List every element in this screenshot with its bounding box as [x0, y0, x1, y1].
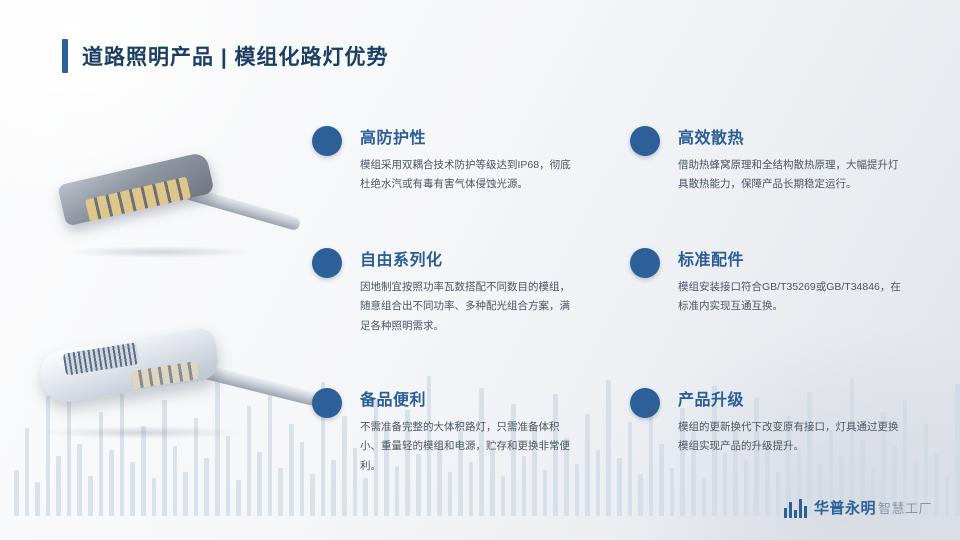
street-lamp-module-photo — [42, 150, 302, 270]
feature-item-product-upgrade: 产品升级 模组的更新换代下改变原有接口，灯具通过更换模组实现产品的升级提升。 — [630, 386, 904, 457]
bullet-icon — [630, 126, 660, 156]
feature-body: 模组采用双耦合技术防护等级达到IP68，彻底杜绝水汽或有毒有害气体侵蚀光源。 — [360, 156, 578, 195]
feature-heading: 高效散热 — [678, 124, 904, 148]
slide-title-text: 道路照明产品 | 模组化路灯优势 — [82, 41, 389, 71]
logo-company-name: 华普永明 — [814, 497, 876, 518]
feature-heading: 产品升级 — [678, 386, 904, 410]
feature-heading: 自由系列化 — [360, 246, 578, 270]
street-lamp-finned-photo — [28, 322, 318, 452]
title-accent-bar — [62, 39, 68, 73]
logo-mark-icon — [784, 498, 808, 518]
feature-body: 借助热蜂窝原理和全结构散热原理，大幅提升灯具散热能力，保障产品长期稳定运行。 — [678, 156, 904, 195]
feature-body: 因地制宜按照功率瓦数搭配不同数目的模组，随意组合出不同功率、多种配光组合方案，满… — [360, 278, 578, 336]
slide-root: 道路照明产品 | 模组化路灯优势 高防护性 模组采用双耦合技术防护等级达到IP6… — [0, 0, 960, 540]
feature-body: 模组安装接口符合GB/T35269或GB/T34846，在标准内实现互通互换。 — [678, 278, 904, 317]
feature-heading: 标准配件 — [678, 246, 904, 270]
feature-heading: 备品便利 — [360, 386, 578, 410]
bullet-icon — [630, 248, 660, 278]
feature-body: 不需准备完整的大体积路灯，只需准备体积小、重量轻的模组和电源，贮存和更换非常便利… — [360, 418, 578, 476]
lamp-shadow — [42, 426, 242, 439]
feature-item-serialization: 自由系列化 因地制宜按照功率瓦数搭配不同数目的模组，随意组合出不同功率、多种配光… — [312, 246, 578, 336]
slide-title: 道路照明产品 | 模组化路灯优势 — [62, 36, 389, 76]
bullet-icon — [312, 248, 342, 278]
feature-item-heat-dissipation: 高效散热 借助热蜂窝原理和全结构散热原理，大幅提升灯具散热能力，保障产品长期稳定… — [630, 124, 904, 195]
feature-heading: 高防护性 — [360, 124, 578, 148]
company-logo: 华普永明 智慧工厂 — [784, 497, 932, 518]
bullet-icon — [630, 388, 660, 418]
feature-item-spare-parts: 备品便利 不需准备完整的大体积路灯，只需准备体积小、重量轻的模组和电源，贮存和更… — [312, 386, 578, 476]
bullet-icon — [312, 388, 342, 418]
lamp-shadow — [66, 246, 256, 258]
feature-body: 模组的更新换代下改变原有接口，灯具通过更换模组实现产品的升级提升。 — [678, 418, 904, 457]
logo-tagline: 智慧工厂 — [878, 498, 932, 517]
bullet-icon — [312, 126, 342, 156]
feature-item-standard-parts: 标准配件 模组安装接口符合GB/T35269或GB/T34846，在标准内实现互… — [630, 246, 904, 317]
feature-item-protection: 高防护性 模组采用双耦合技术防护等级达到IP68，彻底杜绝水汽或有毒有害气体侵蚀… — [312, 124, 578, 195]
